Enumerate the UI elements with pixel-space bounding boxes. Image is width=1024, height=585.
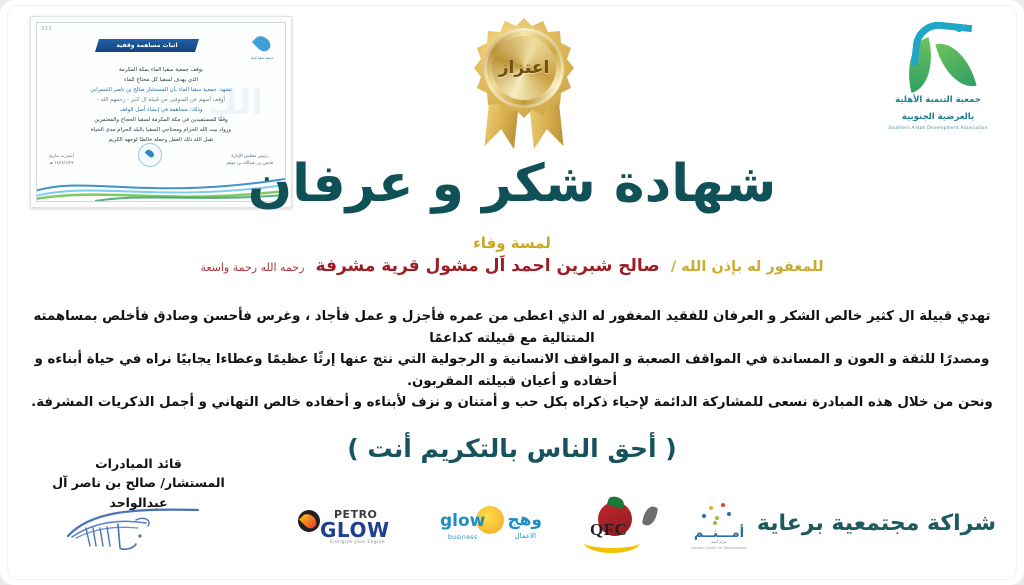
association-name-ar-line1: جمعية التنمية الأهلية	[880, 94, 996, 107]
embedded-certificate-line: وقفًا للمستفيدين في مكة المكرمة لسقيا ال…	[51, 115, 271, 125]
petro-glow-flame-gear-icon	[298, 510, 320, 532]
petro-glow-name-main: GLOW	[320, 518, 390, 542]
body-line: ونحن من خلال هذه المبادرة نسعى للمشاركة …	[22, 392, 1002, 414]
embedded-certificate-line: تشهد: جمعية سقيا الماء بأن المستشار صالح…	[51, 85, 271, 95]
amnam-sub-en: Amnam Center for Development	[682, 546, 756, 550]
signature-block: قائد المبادرات المستشار/ صالح بن ناصر آل…	[26, 454, 251, 512]
embedded-certificate-code: 333	[41, 26, 52, 32]
qfc-logo-icon: QFC	[582, 498, 658, 558]
honoree-suffix: رحمه الله رحمة واسعة	[200, 261, 304, 274]
page-subtitle: لمسة وفاء	[8, 234, 1016, 252]
page-title: شهادة شكر و عرفان	[8, 158, 1016, 210]
embedded-certificate-ribbon-title: اثبات مساهمة وقفية	[95, 39, 199, 52]
embedded-certificate-line: الذي يهدف لسقيا كل محتاج للماء	[51, 75, 271, 85]
handwritten-signature-icon	[60, 506, 210, 552]
amnam-sub-ar: مركز أمنم	[682, 540, 756, 544]
body-paragraph: تهدي قبيلة ال كثير خالص الشكر و العرفان …	[22, 306, 1002, 414]
wahaj-sub-en: business	[448, 534, 477, 541]
embedded-certificate-line: ورواد بيت الله الحرام ومحتاجي السقيا بال…	[51, 125, 271, 135]
swoosh-icon	[911, 19, 973, 72]
body-line: ومصدرًا للثقة و العون و المساندة في المو…	[22, 349, 1002, 392]
embedded-certificate-line: أوقف أسهم عن المتوفين من قبيلة ال كثير -…	[51, 95, 271, 105]
petro-glow-tagline: Energize your Engine	[330, 540, 385, 545]
association-name-ar-line2: بالعرضية الجنوبية	[880, 111, 996, 124]
swoosh-dot-icon	[955, 24, 963, 32]
sponsorship-note: شراكة مجتمعية برعاية	[757, 511, 996, 536]
water-drop-icon	[251, 33, 272, 54]
certificate-page: 333 الك اثبات مساهمة وقفية جمعية سقيا ال…	[0, 0, 1024, 585]
embedded-certificate-line: بوقف جمعية سقيا الماء بمكة المكرمة	[51, 65, 271, 75]
badge-label: اعتزاز	[499, 58, 550, 78]
sponsor-logos: PETRO GLOW Energize your Engine وهج glow…	[290, 498, 750, 560]
embedded-certificate-line: وذلك: مساهمة في إنشاء أصل الوقف	[51, 105, 271, 115]
association-leaf-logo-icon	[897, 18, 979, 90]
amnam-logo-icon: أمـــنــم مركز أمنم Amnam Center for Dev…	[682, 498, 756, 558]
wahaj-glow-logo-icon: وهج glow الاعمال business	[438, 498, 548, 558]
body-line: تهدي قبيلة ال كثير خالص الشكر و العرفان …	[22, 306, 1002, 349]
honoree-name: صالح شبرين احمد اَل مشول قرية مشرفة	[316, 256, 660, 276]
association-logo: جمعية التنمية الأهلية بالعرضية الجنوبية …	[880, 18, 996, 143]
certificate-canvas: 333 الك اثبات مساهمة وقفية جمعية سقيا ال…	[8, 6, 1016, 579]
embedded-certificate-body: بوقف جمعية سقيا الماء بمكة المكرمة الذي …	[51, 65, 271, 145]
saqya-water-logo-caption: جمعية سقيا الماء	[245, 56, 279, 60]
honoree-lead: للمغفور له بإذن الله /	[671, 259, 824, 275]
wahaj-name-ar: وهج	[507, 510, 542, 530]
honoree-line: للمغفور له بإذن الله / صالح شبرين احمد ا…	[8, 256, 1016, 276]
association-name-en: Southern Ardah Development Association	[880, 126, 996, 131]
wahaj-sub-ar: الاعمال	[515, 532, 536, 540]
amnam-burst-icon	[700, 500, 734, 526]
wahaj-name-en: glow	[440, 511, 485, 531]
amnam-name-ar: أمـــنــم	[682, 526, 756, 541]
signatory-role: قائد المبادرات	[26, 454, 251, 473]
gold-rosette-badge: اعتزاز	[470, 14, 578, 152]
qfc-flame-icon	[641, 505, 658, 528]
rosette-inner-disc: اعتزاز	[492, 36, 556, 100]
qfc-name: QFC	[590, 520, 627, 540]
petro-glow-logo-icon: PETRO GLOW Energize your Engine	[298, 498, 416, 558]
saqya-water-logo-icon: جمعية سقيا الماء	[245, 35, 279, 65]
